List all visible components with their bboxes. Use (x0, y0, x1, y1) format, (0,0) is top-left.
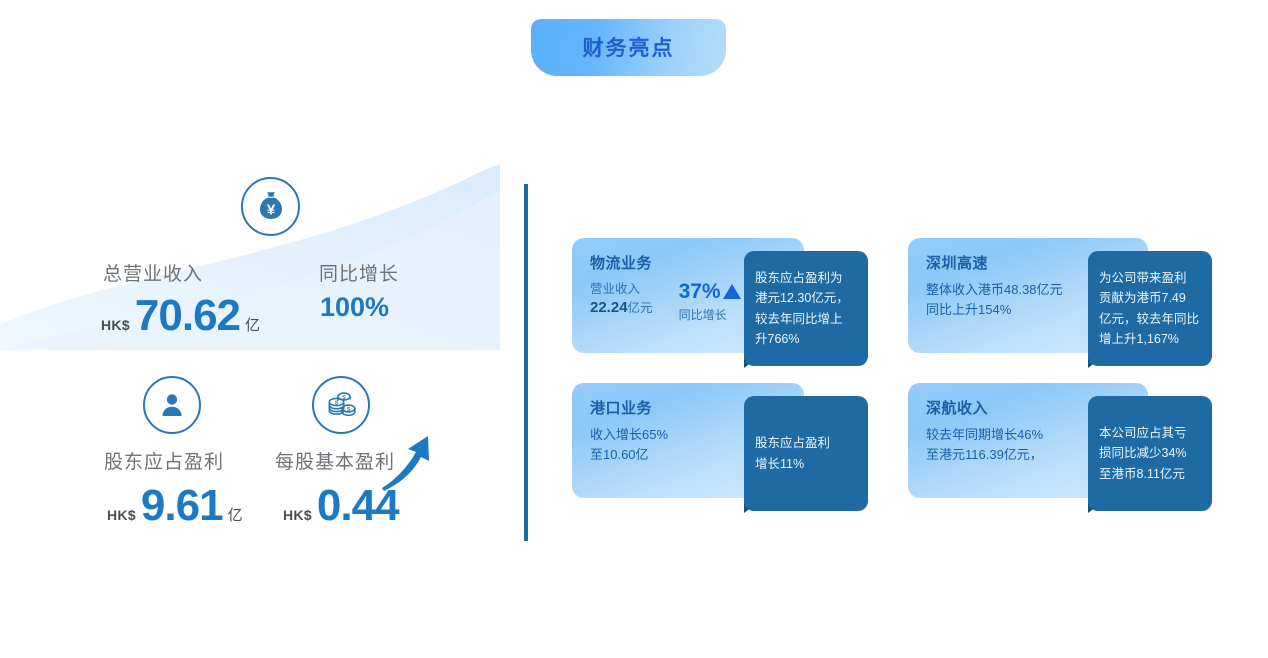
card-port-business-dark-line-1: 股东应占盈利 (755, 433, 830, 453)
total-revenue-label: 总营业收入 (103, 259, 203, 286)
card-logistics-growth-value: 37% (679, 280, 741, 303)
person-icon (157, 390, 187, 420)
card-shenzhen-airlines-dark-line-3: 至港币8.11亿元 (1099, 464, 1187, 484)
card-shenzhen-airlines-dark-line-2: 损同比减少34% (1099, 443, 1187, 463)
card-shenzhen-airlines-dark-text: 本公司应占其亏 损同比减少34% 至港币8.11亿元 (1088, 423, 1198, 484)
card-shenzhen-expressway-dark-line-4: 增上升1,167% (1099, 329, 1199, 349)
eps-number: 0.44 (317, 484, 399, 528)
card-logistics-dark-text: 股东应占盈利为 港元12.30亿元， 较去年同比增上 升766% (744, 268, 860, 349)
card-port-business[interactable]: 港口业务 收入增长65% 至10.60亿 股东应占盈利 增长11% (572, 383, 892, 518)
card-logistics-dark-line-4: 升766% (755, 329, 849, 349)
person-icon-circle (143, 376, 201, 434)
card-shenzhen-airlines-dark-line-1: 本公司应占其亏 (1099, 423, 1187, 443)
card-logistics-dark-line-2: 港元12.30亿元， (755, 288, 849, 308)
section-header-tab: 财务亮点 (531, 19, 726, 76)
card-logistics-revenue-unit: 亿元 (628, 301, 653, 315)
total-revenue-unit: 亿 (245, 314, 260, 335)
card-port-business-dark-text: 股东应占盈利 增长11% (744, 433, 841, 474)
total-revenue-number: 70.62 (135, 294, 240, 338)
card-logistics-revenue-number: 22.24 (590, 299, 628, 316)
card-logistics-dark-panel: 股东应占盈利为 港元12.30亿元， 较去年同比增上 升766% (744, 251, 868, 366)
total-revenue-value: HK$ 70.62 亿 (101, 294, 260, 338)
money-bag-icon-circle: ¥ (241, 177, 300, 236)
money-bag-yen-icon: ¥ (254, 190, 288, 224)
business-highlight-cards: 物流业务 营业收入 22.24亿元 37% 同比增长 股东应占盈利为 港元12.… (560, 225, 1260, 515)
card-logistics-growth-metric: 37% 同比增长 (679, 280, 741, 323)
card-logistics-revenue-metric: 营业收入 22.24亿元 (590, 280, 653, 318)
card-shenzhen-airlines-dark-panel: 本公司应占其亏 损同比减少34% 至港币8.11亿元 (1088, 396, 1212, 511)
card-shenzhen-expressway-dark-line-3: 亿元，较去年同比 (1099, 309, 1199, 329)
eps-value: HK$ 0.44 (283, 484, 404, 528)
card-logistics-revenue-label: 营业收入 (590, 280, 653, 298)
header-tab-label: 财务亮点 (583, 32, 675, 62)
card-shenzhen-expressway-dark-panel: 为公司带来盈利 贡献为港币7.49 亿元，较去年同比 增上升1,167% (1088, 251, 1212, 366)
vertical-divider (524, 184, 528, 541)
card-shenzhen-expressway[interactable]: 深圳高速 整体收入港币48.38亿元 同比上升154% 为公司带来盈利 贡献为港… (908, 238, 1228, 373)
total-revenue-currency: HK$ (101, 317, 130, 333)
coin-stack-icon: S S S (324, 389, 358, 421)
slide-canvas: 财务亮点 ¥ 总营业收入 (0, 0, 1268, 658)
yoy-growth-label: 同比增长 (319, 259, 399, 286)
svg-text:S: S (335, 400, 339, 406)
card-shenzhen-expressway-dark-text: 为公司带来盈利 贡献为港币7.49 亿元，较去年同比 增上升1,167% (1088, 268, 1210, 349)
shareholder-profit-number: 9.61 (141, 484, 223, 528)
card-logistics-dark-line-3: 较去年同比增上 (755, 309, 849, 329)
card-port-business-dark-panel: 股东应占盈利 增长11% (744, 396, 868, 511)
card-logistics-growth-number: 37% (679, 280, 721, 303)
card-port-business-dark-line-2: 增长11% (755, 454, 830, 474)
shareholder-profit-currency: HK$ (107, 507, 136, 523)
card-logistics[interactable]: 物流业务 营业收入 22.24亿元 37% 同比增长 股东应占盈利为 港元12.… (572, 238, 892, 373)
shareholder-profit-label: 股东应占盈利 (104, 447, 224, 474)
eps-currency: HK$ (283, 507, 312, 523)
svg-text:¥: ¥ (266, 201, 275, 218)
eps-label: 每股基本盈利 (275, 447, 395, 474)
card-shenzhen-expressway-dark-line-2: 贡献为港币7.49 (1099, 288, 1199, 308)
left-kpi-panel: ¥ 总营业收入 HK$ 70.62 亿 同比增长 100% (0, 150, 500, 570)
up-triangle-icon (723, 284, 741, 299)
svg-text:S: S (347, 407, 351, 413)
card-logistics-revenue-value: 22.24亿元 (590, 298, 653, 318)
shareholder-profit-value: HK$ 9.61 亿 (107, 484, 243, 528)
yoy-growth-value: 100% (320, 292, 389, 323)
card-logistics-dark-line-1: 股东应占盈利为 (755, 268, 849, 288)
coins-icon-circle: S S S (312, 376, 370, 434)
shareholder-profit-unit: 亿 (228, 504, 243, 525)
svg-text:S: S (342, 395, 346, 401)
card-shenzhen-expressway-dark-line-1: 为公司带来盈利 (1099, 268, 1199, 288)
card-shenzhen-airlines[interactable]: 深航收入 较去年同期增长46% 至港元116.39亿元， 本公司应占其亏 损同比… (908, 383, 1228, 518)
card-logistics-growth-label: 同比增长 (679, 306, 727, 323)
